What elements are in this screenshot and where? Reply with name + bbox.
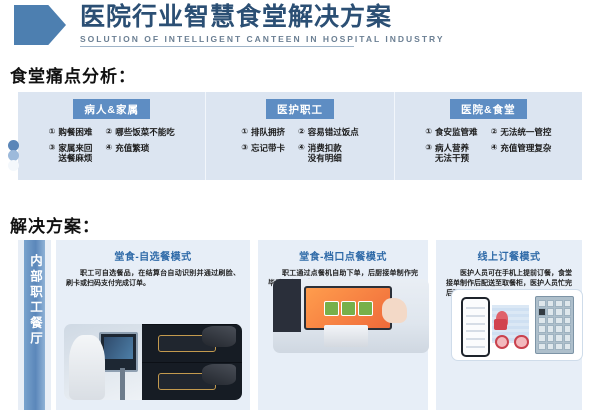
pain-points-panel: 病人&家属①购餐困难②哪些饭菜不能吃③家属来回送餐麻烦④充值繁琐医护职工①排队拥… (18, 92, 582, 180)
locker-cell (555, 317, 563, 325)
solution-card-title: 堂食-档口点餐模式 (265, 248, 421, 263)
side-band-label: 内部职工餐厅 (24, 254, 45, 347)
pain-point-number: ① (49, 127, 56, 138)
photo-tray-scenes (142, 324, 242, 400)
pain-point-badge: 病人&家属 (73, 99, 150, 119)
pain-point-number: ① (241, 127, 248, 138)
header-divider (80, 46, 354, 47)
pain-point-label: 无法统一管控 (500, 127, 551, 138)
pain-point-item: ④充值管理复杂 (491, 143, 552, 164)
locker-cell (547, 334, 555, 342)
locker-cell (538, 308, 546, 316)
pain-point-item: ③家属来回送餐麻烦 (49, 143, 93, 164)
locker-cell (538, 300, 546, 308)
pain-point-list: ①排队拥挤②容易错过饭点③忘记带卡④消费扣款没有明细 (241, 127, 359, 164)
locker-cell (555, 300, 563, 308)
pain-point-item: ④消费扣款没有明细 (298, 143, 359, 164)
tray-scene-top (142, 324, 242, 362)
pain-point-number: ① (425, 127, 432, 138)
photo-kiosk-scene (64, 324, 142, 400)
pain-section-heading: 食堂痛点分析： (10, 62, 136, 87)
solutions-area: 内部职工餐厅 堂食-自选餐模式 职工可自选餐品，在结算台自动识别并通过刷脸、刷卡… (18, 240, 582, 410)
pain-point-label: 哪些饭菜不能吃 (115, 127, 175, 138)
pain-point-label: 忘记带卡 (251, 143, 285, 154)
locker-cell (547, 300, 555, 308)
arrow-pentagon-icon (14, 5, 66, 45)
side-band: 内部职工餐厅 (18, 240, 51, 410)
locker-cell (564, 343, 572, 351)
pain-point-number: ④ (491, 143, 498, 154)
pain-point-item: ①食安监管难 (425, 127, 477, 138)
delivery-box-icon (494, 319, 507, 330)
page-header: 医院行业智慧食堂解决方案 SOLUTION OF INTELLIGENT CAN… (0, 0, 600, 52)
locker-cell (538, 334, 546, 342)
solution-card[interactable]: 堂食-自选餐模式 职工可自选餐品，在结算台自动识别并通过刷脸、刷卡或扫码支付完成… (56, 240, 250, 410)
locker-cell (538, 343, 546, 351)
pain-point-list: ①食安监管难②无法统一管控③病人营养无法干预④充值管理复杂 (425, 127, 551, 164)
online-order-illustration (451, 289, 583, 361)
kiosk-screen-icon (99, 332, 137, 372)
pickup-locker-icon (535, 296, 574, 355)
kiosk-pole (120, 368, 125, 400)
tray-scene-bottom (142, 362, 242, 400)
locker-cell (547, 325, 555, 333)
pain-point-number: ② (298, 127, 305, 138)
locker-cell (564, 308, 572, 316)
pain-point-number: ③ (49, 143, 56, 154)
locker-cell (547, 317, 555, 325)
decorative-dots (8, 140, 22, 170)
locker-cell (547, 308, 555, 316)
pain-point-label: 容易错过饭点 (308, 127, 359, 138)
menu-screen-icon (304, 286, 392, 330)
kiosk-stand (324, 325, 368, 347)
pain-point-item: ②无法统一管控 (491, 127, 552, 138)
pain-point-number: ③ (241, 143, 248, 154)
pain-point-item: ②哪些饭菜不能吃 (105, 127, 174, 138)
solution-section-heading: 解决方案： (10, 212, 100, 237)
pain-point-number: ③ (425, 143, 432, 154)
self-select-checkout-photo (64, 324, 242, 400)
pain-point-column: 医院&食堂①食安监管难②无法统一管控③病人营养无法干预④充值管理复杂 (394, 92, 582, 180)
person-silhouette (273, 279, 301, 332)
pain-point-number: ② (105, 127, 112, 138)
pain-point-item: ④充值繁琐 (105, 143, 174, 164)
scooter-wheel-icon (495, 335, 509, 349)
pain-point-item: ①购餐困难 (49, 127, 93, 138)
pain-point-column: 病人&家属①购餐困难②哪些饭菜不能吃③家属来回送餐麻烦④充值繁琐 (18, 92, 205, 180)
locker-cell (555, 334, 563, 342)
pain-point-item: ②容易错过饭点 (298, 127, 359, 138)
pain-point-label: 购餐困难 (58, 127, 92, 138)
locker-cell (564, 317, 572, 325)
locker-cell (564, 334, 572, 342)
pain-point-label: 家属来回送餐麻烦 (58, 143, 92, 164)
locker-cell (555, 308, 563, 316)
pain-point-label: 排队拥挤 (251, 127, 285, 138)
pain-point-label: 充值管理复杂 (500, 143, 551, 154)
pain-point-label: 消费扣款没有明细 (308, 143, 342, 164)
hand-touching-screen (382, 298, 407, 323)
dot-3-icon (8, 160, 19, 171)
pain-point-item: ③忘记带卡 (241, 143, 285, 164)
locker-cell (555, 343, 563, 351)
solution-card-title: 线上订餐模式 (443, 248, 575, 263)
solution-card-title: 堂食-自选餐模式 (63, 248, 243, 263)
locker-cell (564, 325, 572, 333)
pain-point-badge: 医院&食堂 (450, 99, 527, 119)
locker-cell (555, 325, 563, 333)
pain-point-number: ④ (298, 143, 305, 154)
side-band-fill: 内部职工餐厅 (24, 240, 45, 410)
pain-point-column: 医护职工①排队拥挤②容易错过饭点③忘记带卡④消费扣款没有明细 (205, 92, 393, 180)
pain-point-number: ④ (105, 143, 112, 154)
solution-card[interactable]: 堂食-档口点餐模式 职工通过点餐机自助下单，后厨接单制作完毕后，自动叫号取餐。 (258, 240, 428, 410)
locker-cell (564, 300, 572, 308)
locker-cell (538, 325, 546, 333)
page-subtitle: SOLUTION OF INTELLIGENT CANTEEN IN HOSPI… (80, 33, 445, 45)
person-figure (69, 335, 105, 400)
solution-card-desc: 职工可自选餐品，在结算台自动识别并通过刷脸、刷卡或扫码支付完成订单。 (63, 269, 243, 289)
solution-card[interactable]: 线上订餐模式 医护人员可在手机上提前订餐，食堂接单制作后配送至取餐柜，医护人员忙… (436, 240, 582, 410)
pain-point-label: 食安监管难 (435, 127, 478, 138)
ordering-kiosk-photo (273, 279, 429, 353)
pain-point-item: ①排队拥挤 (241, 127, 285, 138)
locker-cell (547, 343, 555, 351)
page-title: 医院行业智慧食堂解决方案 (80, 2, 445, 32)
pain-point-label: 病人营养无法干预 (435, 143, 469, 164)
locker-cell (538, 317, 546, 325)
header-text-block: 医院行业智慧食堂解决方案 SOLUTION OF INTELLIGENT CAN… (80, 2, 445, 45)
pain-point-list: ①购餐困难②哪些饭菜不能吃③家属来回送餐麻烦④充值繁琐 (49, 127, 175, 164)
scooter-wheel-icon (514, 335, 528, 349)
phone-app-icon (461, 297, 490, 357)
pain-point-number: ② (491, 127, 498, 138)
pain-point-item: ③病人营养无法干预 (425, 143, 477, 164)
pain-point-label: 充值繁琐 (115, 143, 149, 154)
pain-point-badge: 医护职工 (266, 99, 334, 119)
